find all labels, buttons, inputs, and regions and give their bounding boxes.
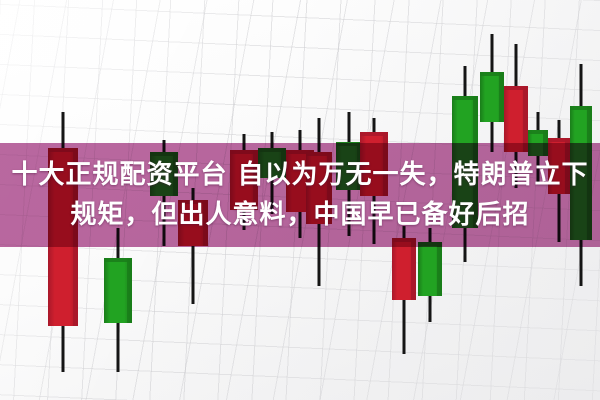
candle-body-side-10: [411, 238, 416, 300]
headline-text: 十大正规配资平台 自以为万无一失，特朗普立下 规矩，但出人意料，中国早已备好后招: [0, 143, 600, 247]
candle-body-1: [104, 258, 132, 323]
headline-line-2: 规矩，但出人意料，中国早已备好后招: [70, 198, 529, 232]
headline-line-1: 十大正规配资平台 自以为万无一失，特朗普立下: [11, 158, 588, 192]
candle-body-side-1: [127, 258, 132, 323]
chart-banner: 十大正规配资平台 自以为万无一失，特朗普立下 规矩，但出人意料，中国早已备好后招: [0, 0, 600, 400]
candle-body-13: [480, 72, 504, 122]
candle-body-11: [418, 242, 442, 296]
candle-body-side-11: [437, 242, 442, 296]
candle-body-10: [392, 238, 416, 300]
